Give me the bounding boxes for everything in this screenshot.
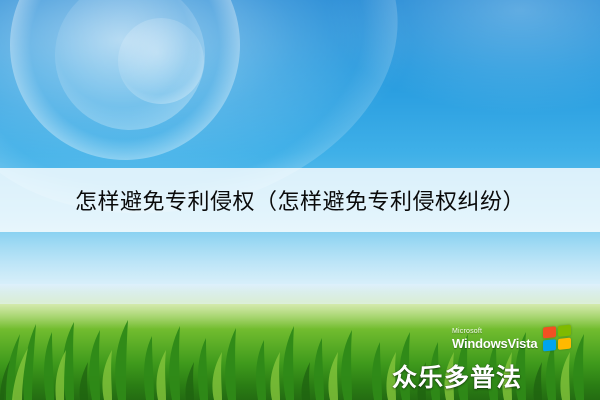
flag-pane-yellow xyxy=(558,338,571,350)
microsoft-label: Microsoft xyxy=(452,328,537,335)
flag-pane-blue xyxy=(543,339,556,351)
vista-wordmark: Microsoft WindowsVista xyxy=(452,328,537,350)
flag-pane-red xyxy=(543,326,556,338)
site-watermark: 众乐多普法 xyxy=(392,358,522,394)
windows-vista-label: WindowsVista xyxy=(452,337,537,350)
windows-vista-logo: Microsoft WindowsVista xyxy=(452,322,572,356)
windows-flag-icon xyxy=(543,324,572,353)
page-title: 怎样避免专利侵权（怎样避免专利侵权纠纷） xyxy=(0,168,600,232)
image-canvas: 怎样避免专利侵权（怎样避免专利侵权纠纷） Microsoft WindowsVi… xyxy=(0,0,600,400)
flag-pane-green xyxy=(558,325,571,337)
